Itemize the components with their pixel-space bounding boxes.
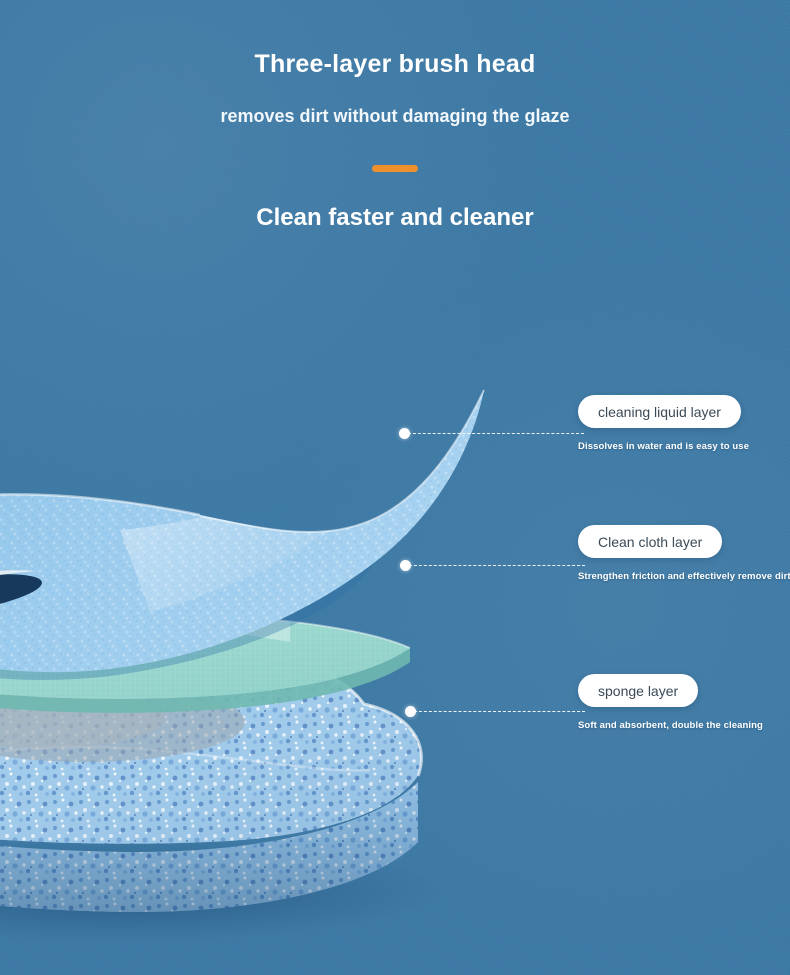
callout-clean-cloth-layer[interactable]: Clean cloth layer Strengthen friction an… [578, 525, 790, 582]
callout-label-sponge-layer[interactable]: sponge layer [578, 674, 698, 707]
callout-description-cleaning-liquid-layer: Dissolves in water and is easy to use [578, 441, 749, 452]
accent-divider-bar [372, 165, 418, 172]
product-infographic: Three-layer brush head removes dirt with… [0, 0, 790, 975]
product-illustration [0, 330, 570, 950]
callout-label-cleaning-liquid-layer[interactable]: cleaning liquid layer [578, 395, 741, 428]
callout-cleaning-liquid-layer[interactable]: cleaning liquid layer Dissolves in water… [578, 395, 749, 452]
page-tagline: Clean faster and cleaner [0, 172, 790, 233]
heading-block: Three-layer brush head removes dirt with… [0, 0, 790, 233]
callout-sponge-layer[interactable]: sponge layer Soft and absorbent, double … [578, 674, 763, 731]
divider [0, 127, 790, 172]
callout-description-sponge-layer: Soft and absorbent, double the cleaning [578, 720, 763, 731]
page-subtitle: removes dirt without damaging the glaze [0, 79, 790, 128]
page-title: Three-layer brush head [0, 0, 790, 79]
callout-description-clean-cloth-layer: Strengthen friction and effectively remo… [578, 571, 790, 582]
callout-label-clean-cloth-layer[interactable]: Clean cloth layer [578, 525, 722, 558]
